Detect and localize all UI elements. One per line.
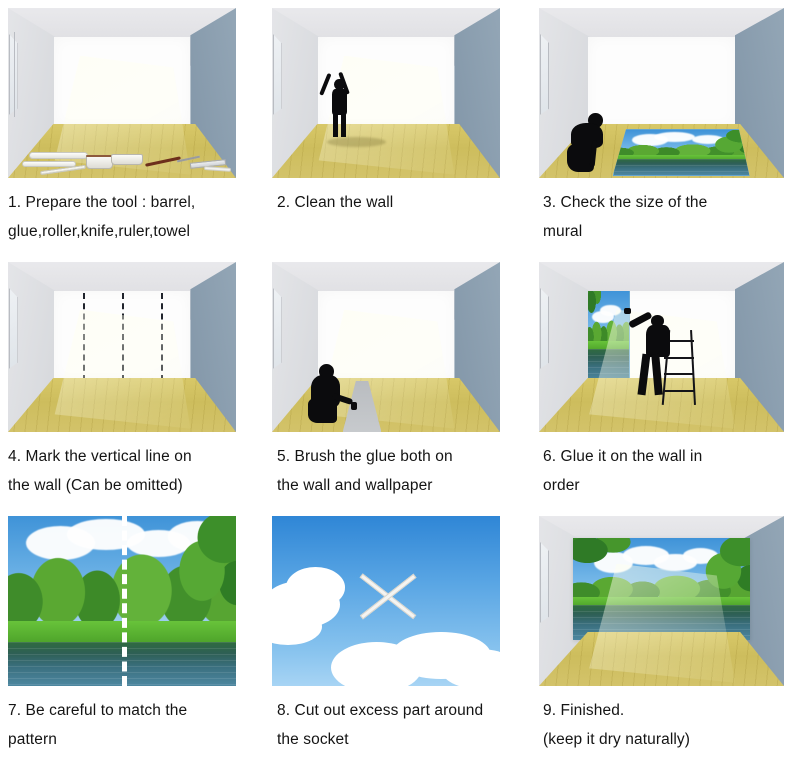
step-cell-7: 7. Be careful to match the pattern	[0, 508, 265, 778]
room-scene	[8, 8, 236, 178]
person-silhouette-cleaning	[318, 69, 364, 137]
room-scene	[539, 8, 784, 178]
room-scene	[272, 8, 500, 178]
room-scene	[539, 516, 784, 686]
torso	[332, 89, 347, 115]
glue-bucket-icon	[111, 154, 143, 165]
window-icon	[540, 34, 550, 116]
person-silhouette-brushing-glue	[308, 364, 358, 425]
window-icon	[540, 288, 550, 370]
instruction-sheet: 1. Prepare the tool : barrel, glue,rolle…	[0, 0, 800, 778]
mural-photo-pattern-match	[8, 516, 236, 686]
step-cell-1: 1. Prepare the tool : barrel, glue,rolle…	[0, 0, 265, 254]
mural-water-reflection	[614, 159, 749, 175]
glue-barrel-icon	[86, 155, 113, 169]
wallpaper-roll-icon	[29, 152, 88, 159]
barrel-rim	[86, 155, 113, 157]
step-illustration-9	[539, 516, 784, 686]
leg	[308, 398, 336, 422]
pattern-match-seam-line	[122, 516, 127, 686]
arm	[590, 140, 598, 167]
sky-photo-socket-cut	[272, 516, 500, 686]
mural-canopy-left	[588, 291, 604, 325]
person-silhouette-on-ladder	[632, 306, 691, 394]
step-caption-3: 3. Check the size of the mural	[543, 188, 793, 246]
step-cell-6: 6. Glue it on the wall in order	[533, 254, 800, 508]
window-icon	[273, 34, 282, 116]
window-mullion	[14, 32, 15, 117]
left-leg	[333, 113, 338, 137]
right-leg	[341, 113, 346, 137]
step-cell-8: 8. Cut out excess part around the socket	[265, 508, 533, 778]
glue-roller-icon	[351, 402, 358, 410]
right-leg	[651, 354, 662, 395]
step-caption-8: 8. Cut out excess part around the socket	[277, 696, 529, 754]
window-icon	[273, 288, 282, 370]
room-scene	[8, 262, 236, 432]
photo-canopy-right	[154, 516, 236, 628]
step-caption-5: 5. Brush the glue both on the wall and w…	[277, 442, 529, 500]
left-arm	[320, 73, 332, 96]
window-icon	[9, 34, 18, 116]
step-illustration-8	[272, 516, 500, 686]
tools-group	[8, 124, 236, 178]
room-scene	[539, 262, 784, 432]
steps-grid: 1. Prepare the tool : barrel, glue,rolle…	[0, 0, 800, 778]
socket-cut-x-icon	[354, 570, 422, 621]
person-silhouette-measuring	[566, 113, 615, 174]
step-illustration-3	[539, 8, 784, 178]
step-caption-2: 2. Clean the wall	[277, 188, 529, 217]
room-scene	[272, 262, 500, 432]
step-caption-1: 1. Prepare the tool : barrel, glue,rolle…	[8, 188, 260, 246]
step-cell-9: 9. Finished. (keep it dry naturally)	[533, 508, 800, 778]
step-caption-4: 4. Mark the vertical line on the wall (C…	[8, 442, 260, 500]
towel-cloth-icon	[204, 166, 232, 172]
step-cell-2: 2. Clean the wall	[265, 0, 533, 254]
step-illustration-4	[8, 262, 236, 432]
step-cell-5: 5. Brush the glue both on the wall and w…	[265, 254, 533, 508]
left-leg	[638, 354, 651, 395]
mural-on-floor	[613, 129, 750, 177]
torso	[646, 325, 670, 357]
step-illustration-5	[272, 262, 500, 432]
step-illustration-6	[539, 262, 784, 432]
step-illustration-1	[8, 8, 236, 178]
step-caption-9: 9. Finished. (keep it dry naturally)	[543, 696, 793, 754]
step-illustration-7	[8, 516, 236, 686]
window-icon	[540, 542, 550, 624]
knife-handle-icon	[145, 156, 181, 167]
step-cell-4: 4. Mark the vertical line on the wall (C…	[0, 254, 265, 508]
step-caption-7: 7. Be careful to match the pattern	[8, 696, 260, 754]
step-caption-6: 6. Glue it on the wall in order	[543, 442, 793, 500]
roller-icon	[624, 308, 631, 314]
window-icon	[9, 288, 18, 370]
step-cell-3: 3. Check the size of the mural	[533, 0, 800, 254]
step-illustration-2	[272, 8, 500, 178]
